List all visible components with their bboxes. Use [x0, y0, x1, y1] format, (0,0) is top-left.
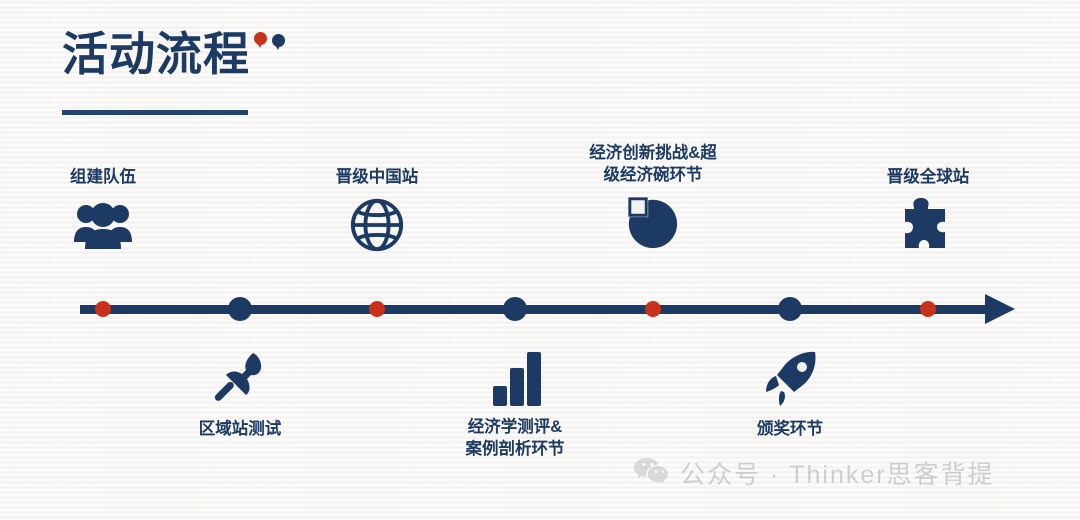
- milestone-label: 颁奖环节: [680, 418, 900, 440]
- slide-canvas: 活动流程 组建队伍 晋级中国站: [0, 0, 1080, 520]
- watermark: 公众号 · Thinker思客背提: [634, 455, 995, 491]
- timeline-line: [80, 305, 990, 314]
- globe-icon: [267, 196, 487, 254]
- milestone-economics-assessment[interactable]: 经济学测评& 案例剖析环节: [405, 348, 625, 460]
- title-block: 活动流程: [60, 24, 340, 104]
- pushpin-icon: [130, 348, 350, 410]
- timeline-axis: [80, 298, 1020, 328]
- timeline-node-6[interactable]: [778, 297, 802, 321]
- wechat-icon: [634, 456, 668, 491]
- bar-chart-icon: [405, 348, 625, 408]
- milestone-awards[interactable]: 颁奖环节: [680, 348, 900, 440]
- timeline-node-4[interactable]: [503, 297, 527, 321]
- puzzle-piece-icon: [818, 196, 1038, 254]
- quote-bubble-orange-icon: [254, 32, 267, 45]
- milestone-advance-global[interactable]: 晋级全球站: [818, 166, 1038, 254]
- milestone-label: 经济创新挑战&超 级经济碗环节: [543, 142, 763, 186]
- timeline-node-3[interactable]: [369, 301, 385, 317]
- milestone-advance-china[interactable]: 晋级中国站: [267, 166, 487, 254]
- rocket-icon: [680, 348, 900, 410]
- milestone-econ-innovation-challenge[interactable]: 经济创新挑战&超 级经济碗环节: [543, 142, 763, 250]
- pie-chart-icon: [543, 194, 763, 250]
- timeline-node-5[interactable]: [645, 301, 661, 317]
- milestone-label: 经济学测评& 案例剖析环节: [405, 416, 625, 460]
- page-title: 活动流程: [62, 24, 250, 84]
- milestone-label: 晋级中国站: [267, 166, 487, 188]
- milestone-label: 组建队伍: [0, 166, 213, 188]
- milestone-form-team[interactable]: 组建队伍: [0, 166, 213, 252]
- people-group-icon: [0, 196, 213, 252]
- watermark-text: 公众号 · Thinker思客背提: [680, 455, 995, 491]
- milestone-regional-test[interactable]: 区域站测试: [130, 348, 350, 440]
- timeline-node-7[interactable]: [920, 301, 936, 317]
- timeline-node-1[interactable]: [95, 301, 111, 317]
- title-underline: [62, 110, 248, 115]
- milestone-label: 区域站测试: [130, 418, 350, 440]
- quote-bubble-navy-icon: [272, 34, 285, 47]
- timeline-node-2[interactable]: [228, 297, 252, 321]
- timeline-arrowhead-icon: [985, 294, 1015, 324]
- milestone-label: 晋级全球站: [818, 166, 1038, 188]
